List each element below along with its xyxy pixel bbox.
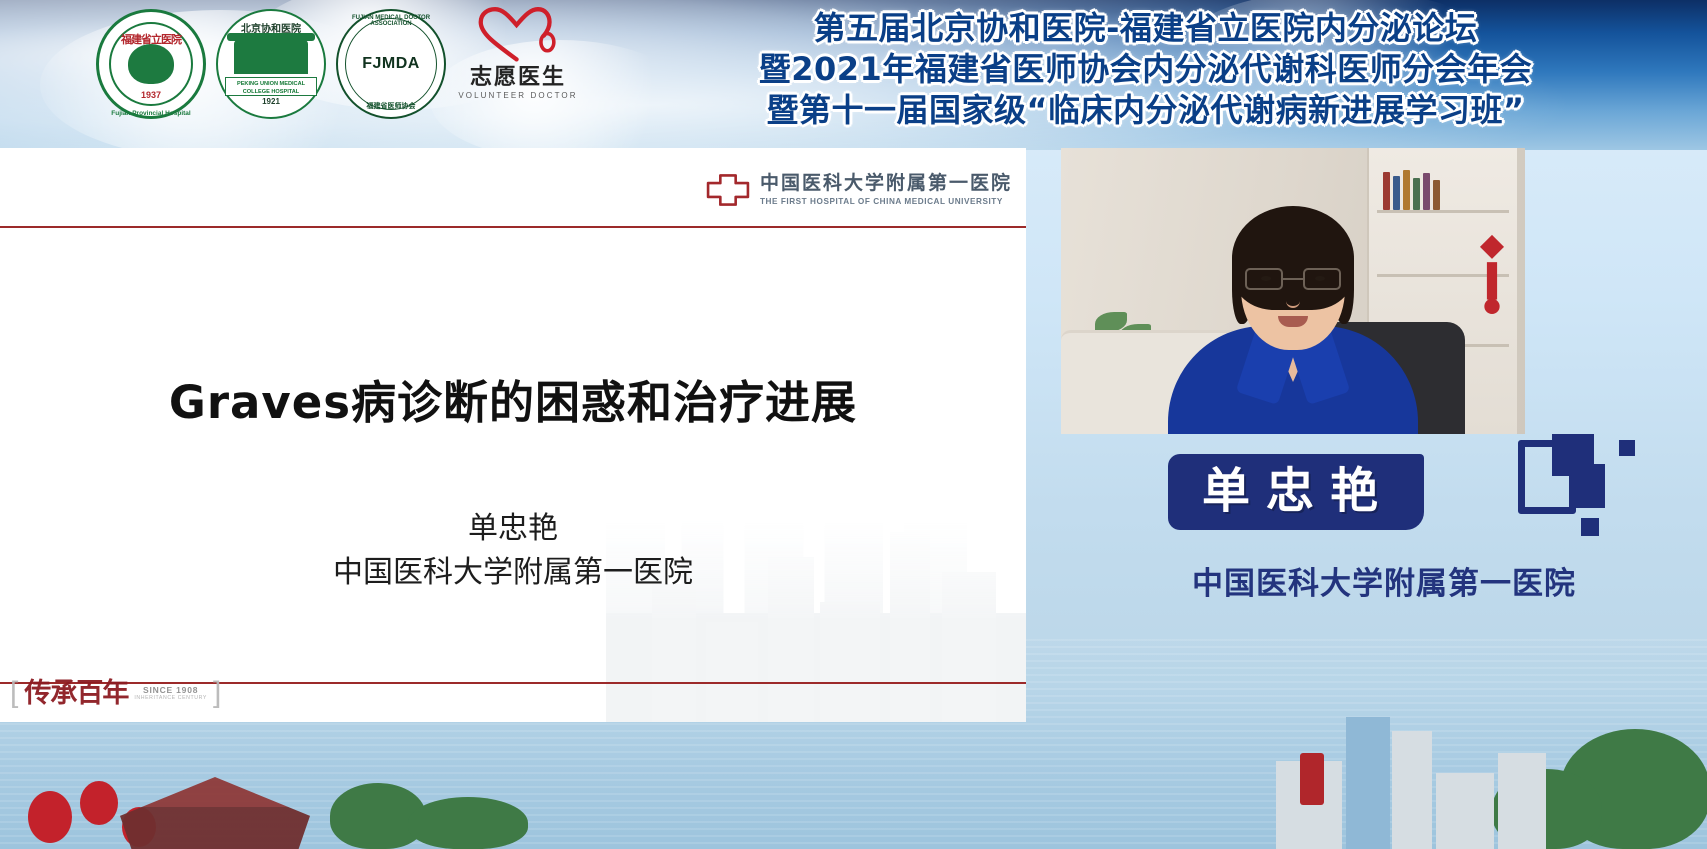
badge-square-decoration xyxy=(1581,518,1599,536)
badge-square-decoration xyxy=(1619,440,1635,456)
event-title-block: 第五届北京协和医院-福建省立医院内分泌论坛 暨2021年福建省医师协会内分泌代谢… xyxy=(580,0,1707,131)
slide-logo-cn-text: 中国医科大学附属第一医院 xyxy=(760,174,1012,194)
since-year-text: SINCE 1908 xyxy=(143,685,198,695)
slide-heritage-watermark: [ 传承百年 SINCE 1908 INHERITANCE CENTURY ] xyxy=(10,676,221,710)
bracket-left-icon: [ xyxy=(10,676,18,710)
event-header: 福建省立医院 1937 Fujian Provincial Hospital 北… xyxy=(0,0,1707,150)
volunteer-doctor-logo-icon: 志愿医生 VOLUNTEER DOCTOR xyxy=(456,6,580,122)
hospital-building-photo xyxy=(1276,709,1606,849)
hospital-sign xyxy=(1300,753,1324,805)
pumc-logo-en-text: PEKING UNION MEDICALCOLLEGE HOSPITAL xyxy=(225,77,317,96)
fph-logo-year: 1937 xyxy=(111,90,191,100)
volunteer-doctor-cn-text: 志愿医生 xyxy=(470,66,566,88)
badge-square-decoration xyxy=(1575,464,1605,508)
speaker-affiliation-label: 中国医科大学附属第一医院 xyxy=(1061,558,1707,603)
hospital-building-icon xyxy=(234,40,308,74)
eyeglasses-icon xyxy=(1245,268,1341,290)
bracket-right-icon: ] xyxy=(213,676,221,710)
fjmda-logo-cn-text: 福建省医师协会 xyxy=(338,101,444,111)
since-sub-text: INHERITANCE CENTURY xyxy=(134,695,207,701)
fjmda-ring-decoration xyxy=(345,18,437,110)
pumc-logo-year: 1921 xyxy=(262,97,280,106)
banyan-tree-icon xyxy=(128,44,174,84)
red-cross-icon xyxy=(705,172,751,208)
chinese-knot-decoration xyxy=(1475,232,1509,328)
event-title-line-1: 第五届北京协和医院-福建省立医院内分泌论坛 xyxy=(814,8,1478,49)
tree-decoration xyxy=(408,797,528,849)
peking-union-hospital-logo-icon: 北京协和医院 PEKING UNION MEDICALCOLLEGE HOSPI… xyxy=(216,9,326,119)
event-title-line-3: 暨第十一届国家级“临床内分泌代谢病新进展学习班” xyxy=(766,90,1524,131)
volunteer-doctor-en-text: VOLUNTEER DOCTOR xyxy=(458,91,577,100)
slide-title: Graves病诊断的困惑和治疗进展 xyxy=(0,366,1026,431)
slide-presenter-name: 单忠艳 xyxy=(0,508,1026,551)
slide-top-divider xyxy=(0,226,1026,228)
heritage-mark-text: 传承百年 xyxy=(24,680,128,707)
event-title-line-2: 暨2021年福建省医师协会内分泌代谢科医师分会年会 xyxy=(759,49,1533,90)
speaker-name-badge: 单忠艳 xyxy=(1168,454,1424,530)
fjmda-logo-icon: FUJIAN MEDICAL DOCTOR ASSOCIATION FJMDA … xyxy=(336,9,446,119)
fujian-provincial-hospital-logo-icon: 福建省立医院 1937 Fujian Provincial Hospital xyxy=(96,9,206,119)
sponsor-logo-row: 福建省立医院 1937 Fujian Provincial Hospital 北… xyxy=(0,0,580,122)
presentation-slide[interactable]: 中国医科大学附属第一医院 THE FIRST HOSPITAL OF CHINA… xyxy=(0,148,1026,722)
speaker-video-feed[interactable] xyxy=(1061,148,1525,434)
speaker-hair xyxy=(1232,206,1354,310)
heart-stethoscope-icon xyxy=(475,6,561,64)
since-block: SINCE 1908 INHERITANCE CENTURY xyxy=(134,685,207,701)
fph-logo-cn-text: 福建省立医院 xyxy=(111,31,191,47)
slide-presenter-affiliation: 中国医科大学附属第一医院 xyxy=(0,552,1026,595)
speaker-name-plate: 单忠艳 中国医科大学附属第一医院 xyxy=(1061,440,1707,615)
slide-hospital-logo: 中国医科大学附属第一医院 THE FIRST HOSPITAL OF CHINA… xyxy=(705,172,1012,208)
speaker-portrait xyxy=(1168,192,1418,434)
fph-logo-en-text: Fujian Provincial Hospital xyxy=(99,110,203,117)
fjmda-logo-en-text: FUJIAN MEDICAL DOCTOR ASSOCIATION xyxy=(338,15,444,27)
slide-logo-en-text: THE FIRST HOSPITAL OF CHINA MEDICAL UNIV… xyxy=(760,197,1012,206)
